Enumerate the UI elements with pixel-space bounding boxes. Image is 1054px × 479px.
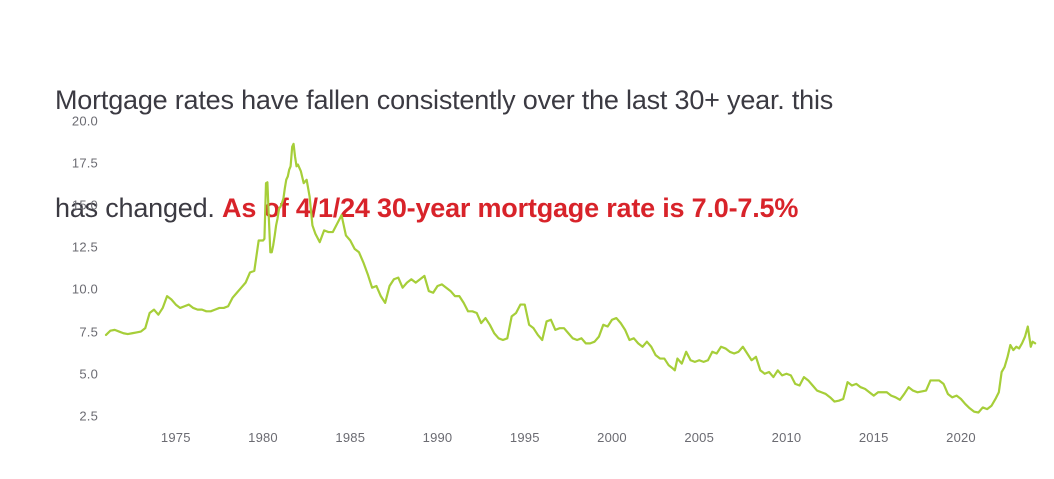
y-axis-tick-label: 15.0 [42,198,98,213]
y-axis-tick-label: 5.0 [42,366,98,381]
rate-line-svg [106,114,1036,426]
y-axis-tick-label: 12.5 [42,240,98,255]
mortgage-rate-line-chart: 2.55.07.510.012.515.017.520.0 1975198019… [0,100,1054,479]
x-axis-tick-label: 1995 [510,430,540,445]
x-axis: 1975198019851990199520002005201020152020 [106,430,1036,454]
x-axis-tick-label: 1990 [423,430,453,445]
slide-root: Mortgage rates have fallen consistently … [0,0,1054,479]
y-axis-tick-label: 17.5 [42,155,98,170]
x-axis-tick-label: 2010 [772,430,802,445]
plot-area [106,114,1036,426]
x-axis-tick-label: 2000 [597,430,627,445]
x-axis-tick-label: 2005 [684,430,714,445]
x-axis-tick-label: 2020 [946,430,976,445]
y-axis-tick-label: 2.5 [42,408,98,423]
x-axis-tick-label: 1975 [161,430,191,445]
x-axis-tick-label: 2015 [859,430,889,445]
y-axis: 2.55.07.510.012.515.017.520.0 [38,114,98,426]
y-axis-tick-label: 20.0 [42,113,98,128]
x-axis-tick-label: 1985 [335,430,365,445]
y-axis-tick-label: 7.5 [42,324,98,339]
x-axis-tick-label: 1980 [248,430,278,445]
rate-line-path [106,144,1035,413]
y-axis-tick-label: 10.0 [42,282,98,297]
